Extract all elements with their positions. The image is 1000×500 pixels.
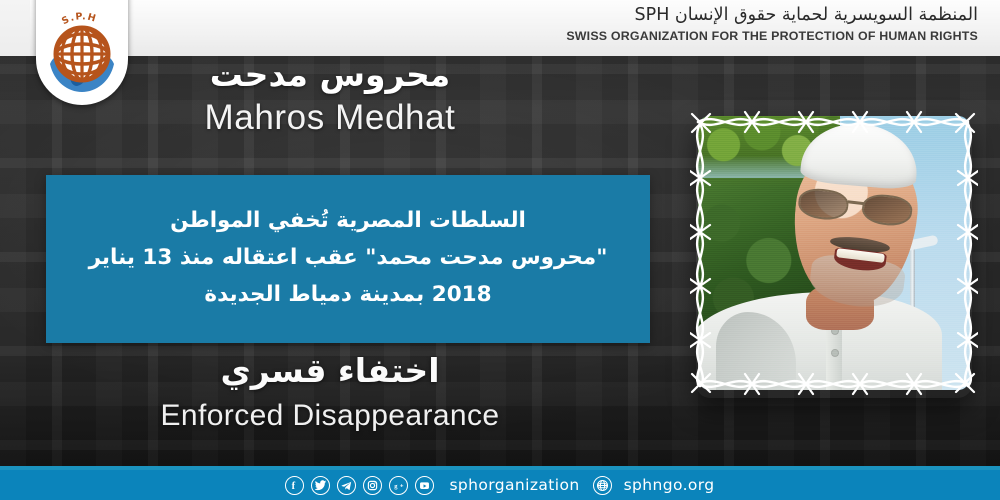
header-left-filler xyxy=(0,0,30,56)
svg-text:g: g xyxy=(395,482,399,489)
statement-text: السلطات المصرية تُخفي المواطن "محروس مدح… xyxy=(72,202,624,313)
svg-text:S.P.H: S.P.H xyxy=(60,11,98,27)
violation-block: اختفاء قسري Enforced Disappearance xyxy=(0,348,660,438)
telegram-icon[interactable] xyxy=(337,476,356,495)
poster-canvas: المنظمة السويسرية لحماية حقوق الإنسان SP… xyxy=(0,0,1000,500)
statement-line-1: السلطات المصرية تُخفي المواطن xyxy=(72,202,624,239)
youtube-icon[interactable] xyxy=(415,476,434,495)
footer-handle-text[interactable]: sphorganization xyxy=(449,476,579,494)
facebook-icon[interactable]: f xyxy=(285,476,304,495)
globe-with-hands-logo-icon: S.P.H xyxy=(40,2,124,98)
header-bar: المنظمة السويسرية لحماية حقوق الإنسان SP… xyxy=(0,0,1000,56)
instagram-icon[interactable] xyxy=(363,476,382,495)
svg-text:+: + xyxy=(400,483,404,489)
violation-label-arabic: اختفاء قسري xyxy=(0,348,660,394)
violation-label-english: Enforced Disappearance xyxy=(0,394,660,438)
org-name-english: SWISS ORGANIZATION FOR THE PROTECTION OF… xyxy=(566,27,978,45)
twitter-icon[interactable] xyxy=(311,476,330,495)
svg-text:f: f xyxy=(292,481,296,491)
subject-name-english: Mahros Medhat xyxy=(0,96,660,140)
portrait-photo xyxy=(698,116,970,390)
statement-line-3: 2018 بمدينة دمياط الجديدة xyxy=(72,276,624,313)
photo-grain-overlay xyxy=(698,116,970,390)
header-org-titles: المنظمة السويسرية لحماية حقوق الإنسان SP… xyxy=(566,3,978,45)
footer-bar: f g+ sphorganization sphngo.org xyxy=(0,470,1000,500)
portrait-frame xyxy=(690,108,978,398)
sph-logo-badge[interactable]: S.P.H xyxy=(36,0,128,105)
statement-panel: السلطات المصرية تُخفي المواطن "محروس مدح… xyxy=(46,175,650,343)
org-name-arabic: المنظمة السويسرية لحماية حقوق الإنسان SP… xyxy=(566,3,978,27)
statement-line-2: "محروس مدحت محمد" عقب اعتقاله منذ 13 ينا… xyxy=(72,239,624,276)
footer-website-text[interactable]: sphngo.org xyxy=(624,476,715,494)
globe-icon[interactable] xyxy=(593,476,612,495)
google-plus-icon[interactable]: g+ xyxy=(389,476,408,495)
